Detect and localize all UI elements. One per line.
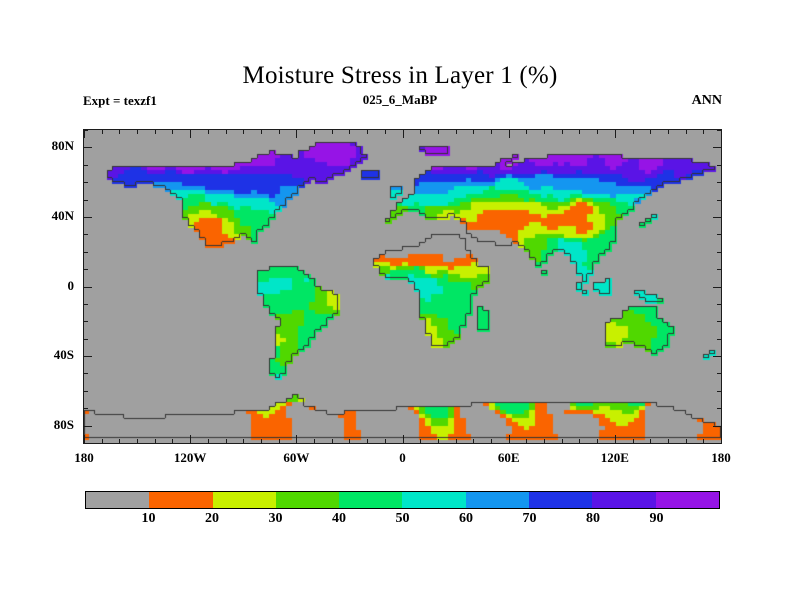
- colorbar-band-7: [529, 492, 592, 508]
- colorbar-tick-70: 70: [510, 511, 550, 527]
- colorbar-tick-90: 90: [637, 511, 677, 527]
- xtick-minor-top: [438, 129, 439, 134]
- xtick-minor-top: [473, 129, 474, 134]
- xtick-minor-top: [296, 129, 297, 138]
- ytick-minor: [83, 217, 92, 218]
- xtick-minor-top: [349, 129, 350, 134]
- xtick-minor: [243, 439, 244, 444]
- xtick-minor: [579, 439, 580, 444]
- xtick-minor-top: [102, 129, 103, 134]
- xtick-minor-top: [579, 129, 580, 134]
- xtick-minor: [190, 435, 191, 444]
- xtick-minor: [526, 439, 527, 444]
- xtick-minor-top: [190, 129, 191, 138]
- ytick-label-80S: 80S: [14, 417, 74, 433]
- colorbar-band-1: [149, 492, 212, 508]
- xtick-minor-top: [597, 129, 598, 134]
- xtick-minor: [367, 439, 368, 444]
- xtick-minor-top: [385, 129, 386, 134]
- xtick-minor: [279, 439, 280, 444]
- xtick-minor: [261, 439, 262, 444]
- xtick-minor-top: [668, 129, 669, 134]
- xtick-label-120E: 120E: [585, 450, 645, 466]
- xtick-minor-top: [456, 129, 457, 134]
- colorbar-band-4: [339, 492, 402, 508]
- xtick-minor: [332, 439, 333, 444]
- xtick-minor: [615, 435, 616, 444]
- ytick-label-40N: 40N: [14, 208, 74, 224]
- ytick-minor-right: [717, 200, 722, 201]
- xtick-minor: [172, 439, 173, 444]
- xtick-minor: [403, 435, 404, 444]
- ytick-minor-right: [717, 130, 722, 131]
- xtick-label-60E: 60E: [479, 450, 539, 466]
- xtick-minor: [119, 439, 120, 444]
- xtick-minor: [703, 439, 704, 444]
- ytick-minor-right: [717, 391, 722, 392]
- xtick-minor: [456, 439, 457, 444]
- xtick-minor-top: [509, 129, 510, 138]
- ytick-minor: [83, 426, 92, 427]
- xtick-label-0: 0: [373, 450, 433, 466]
- xtick-minor: [473, 439, 474, 444]
- colorbar-band-8: [592, 492, 655, 508]
- xtick-minor: [385, 439, 386, 444]
- xtick-minor: [102, 439, 103, 444]
- xtick-minor-top: [137, 129, 138, 134]
- ytick-minor-right: [717, 165, 722, 166]
- xtick-minor: [544, 439, 545, 444]
- ytick-minor-right: [717, 182, 722, 183]
- xtick-minor-top: [279, 129, 280, 134]
- ytick-label-0: 0: [14, 278, 74, 294]
- xtick-label-180: 180: [54, 450, 114, 466]
- xtick-label-180: 180: [691, 450, 751, 466]
- xtick-minor: [155, 439, 156, 444]
- xtick-minor-top: [686, 129, 687, 134]
- xtick-minor: [137, 439, 138, 444]
- xtick-minor-top: [119, 129, 120, 134]
- xtick-minor-top: [172, 129, 173, 134]
- colorbar-band-6: [466, 492, 529, 508]
- xtick-minor: [314, 439, 315, 444]
- ytick-minor: [83, 165, 88, 166]
- ytick-minor: [83, 408, 88, 409]
- xtick-minor-top: [650, 129, 651, 134]
- colorbar-tick-50: 50: [383, 511, 423, 527]
- colorbar-tick-40: 40: [319, 511, 359, 527]
- xtick-minor: [562, 439, 563, 444]
- map-plot-area: [83, 129, 722, 444]
- ytick-minor-right: [713, 217, 722, 218]
- xtick-minor-top: [243, 129, 244, 134]
- ytick-minor: [83, 304, 88, 305]
- xtick-minor: [650, 439, 651, 444]
- colorbar-band-0: [86, 492, 149, 508]
- ytick-minor-right: [717, 339, 722, 340]
- ytick-minor-right: [717, 269, 722, 270]
- xtick-minor-top: [367, 129, 368, 134]
- xtick-minor-top: [155, 129, 156, 134]
- xtick-minor-top: [332, 129, 333, 134]
- colorbar-tick-80: 80: [573, 511, 613, 527]
- xtick-minor-top: [261, 129, 262, 134]
- experiment-label: Expt = texzf1: [83, 93, 157, 109]
- ytick-minor-right: [717, 373, 722, 374]
- colorbar-tick-60: 60: [446, 511, 486, 527]
- xtick-minor: [509, 435, 510, 444]
- xtick-minor-top: [562, 129, 563, 134]
- ytick-minor: [83, 391, 88, 392]
- ytick-minor-right: [717, 443, 722, 444]
- ytick-minor-right: [717, 304, 722, 305]
- xtick-minor: [633, 439, 634, 444]
- xtick-minor-top: [226, 129, 227, 134]
- xtick-minor-top: [491, 129, 492, 134]
- xtick-minor-top: [703, 129, 704, 134]
- ytick-minor-right: [713, 426, 722, 427]
- xtick-minor-top: [526, 129, 527, 134]
- colorbar-tick-10: 10: [129, 511, 169, 527]
- xtick-minor-top: [633, 129, 634, 134]
- ytick-minor: [83, 443, 88, 444]
- xtick-minor: [597, 439, 598, 444]
- ytick-label-40S: 40S: [14, 347, 74, 363]
- colorbar-tick-20: 20: [192, 511, 232, 527]
- xtick-minor: [438, 439, 439, 444]
- colorbar-band-5: [402, 492, 465, 508]
- xtick-minor: [668, 439, 669, 444]
- ytick-minor: [83, 321, 88, 322]
- colorbar-band-3: [276, 492, 339, 508]
- ytick-minor-right: [717, 234, 722, 235]
- xtick-minor: [349, 439, 350, 444]
- ytick-minor-right: [713, 287, 722, 288]
- xtick-minor-top: [314, 129, 315, 134]
- xtick-label-120W: 120W: [160, 450, 220, 466]
- ytick-minor-right: [717, 408, 722, 409]
- xtick-minor-top: [403, 129, 404, 138]
- ytick-minor: [83, 234, 88, 235]
- page-title: Moisture Stress in Layer 1 (%): [0, 62, 800, 90]
- ytick-minor-right: [717, 321, 722, 322]
- moisture-stress-heatmap: [84, 130, 721, 443]
- xtick-minor: [491, 439, 492, 444]
- ytick-minor-right: [713, 147, 722, 148]
- ytick-minor: [83, 373, 88, 374]
- xtick-minor-top: [420, 129, 421, 134]
- ytick-label-80N: 80N: [14, 138, 74, 154]
- ytick-minor: [83, 182, 88, 183]
- season-label: ANN: [692, 93, 722, 109]
- ytick-minor: [83, 339, 88, 340]
- colorbar-tick-30: 30: [256, 511, 296, 527]
- ytick-minor-right: [713, 356, 722, 357]
- xtick-minor: [420, 439, 421, 444]
- xtick-minor-top: [544, 129, 545, 134]
- ytick-minor: [83, 130, 88, 131]
- xtick-minor: [686, 439, 687, 444]
- ytick-minor: [83, 147, 92, 148]
- colorbar-band-9: [656, 492, 719, 508]
- ytick-minor: [83, 287, 92, 288]
- ytick-minor-right: [717, 252, 722, 253]
- xtick-minor-top: [208, 129, 209, 134]
- ytick-minor: [83, 356, 92, 357]
- colorbar: [85, 491, 720, 509]
- ytick-minor: [83, 269, 88, 270]
- ytick-minor: [83, 252, 88, 253]
- xtick-minor: [208, 439, 209, 444]
- ytick-minor: [83, 200, 88, 201]
- xtick-minor-top: [615, 129, 616, 138]
- colorbar-band-2: [213, 492, 276, 508]
- xtick-label-60W: 60W: [266, 450, 326, 466]
- figure-page: Moisture Stress in Layer 1 (%) 025_6_MaB…: [0, 0, 800, 600]
- xtick-minor: [226, 439, 227, 444]
- xtick-minor: [296, 435, 297, 444]
